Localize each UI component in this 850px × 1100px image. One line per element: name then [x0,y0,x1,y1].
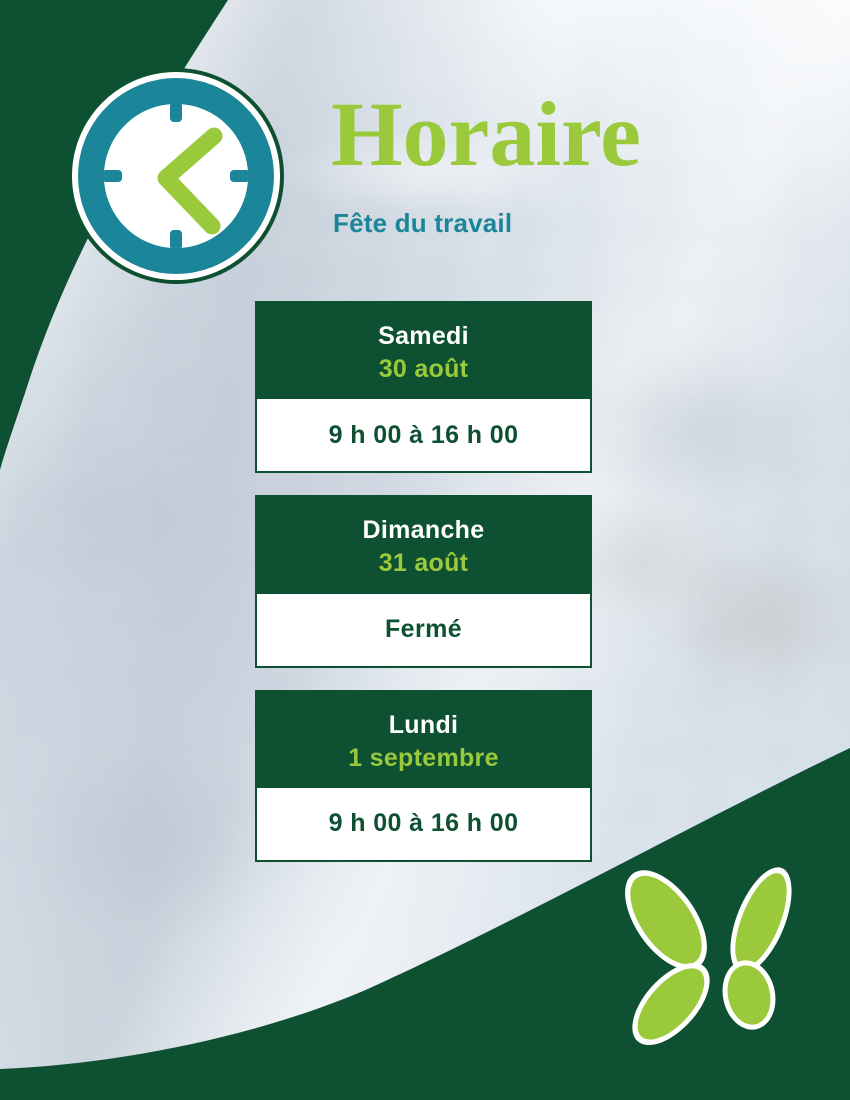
schedule-card: Dimanche 31 août Fermé [255,495,592,667]
schedule-card-day: Dimanche [265,515,582,545]
schedule-card-body: Fermé [255,594,592,668]
schedule-card-list: Samedi 30 août 9 h 00 à 16 h 00 Dimanche… [255,301,592,862]
schedule-card-day: Lundi [265,710,582,740]
schedule-card: Lundi 1 septembre 9 h 00 à 16 h 00 [255,690,592,862]
schedule-card-hours: 9 h 00 à 16 h 00 [329,809,519,838]
schedule-card-hours: Fermé [385,615,462,644]
schedule-card-day: Samedi [265,321,582,351]
schedule-poster: Horaire Fête du travail Samedi 30 août 9… [0,0,850,1100]
schedule-card-header: Lundi 1 septembre [255,690,592,788]
schedule-card-body: 9 h 00 à 16 h 00 [255,399,592,473]
schedule-card-header: Dimanche 31 août [255,495,592,593]
clock-icon [66,66,286,286]
page-title: Horaire [331,88,641,180]
schedule-card-date: 30 août [265,354,582,385]
butterfly-logo-icon [616,858,838,1058]
schedule-card-date: 31 août [265,548,582,579]
schedule-card-body: 9 h 00 à 16 h 00 [255,788,592,862]
schedule-card-header: Samedi 30 août [255,301,592,399]
schedule-card: Samedi 30 août 9 h 00 à 16 h 00 [255,301,592,473]
schedule-card-date: 1 septembre [265,743,582,774]
schedule-card-hours: 9 h 00 à 16 h 00 [329,421,519,450]
page-subtitle: Fête du travail [333,208,512,239]
